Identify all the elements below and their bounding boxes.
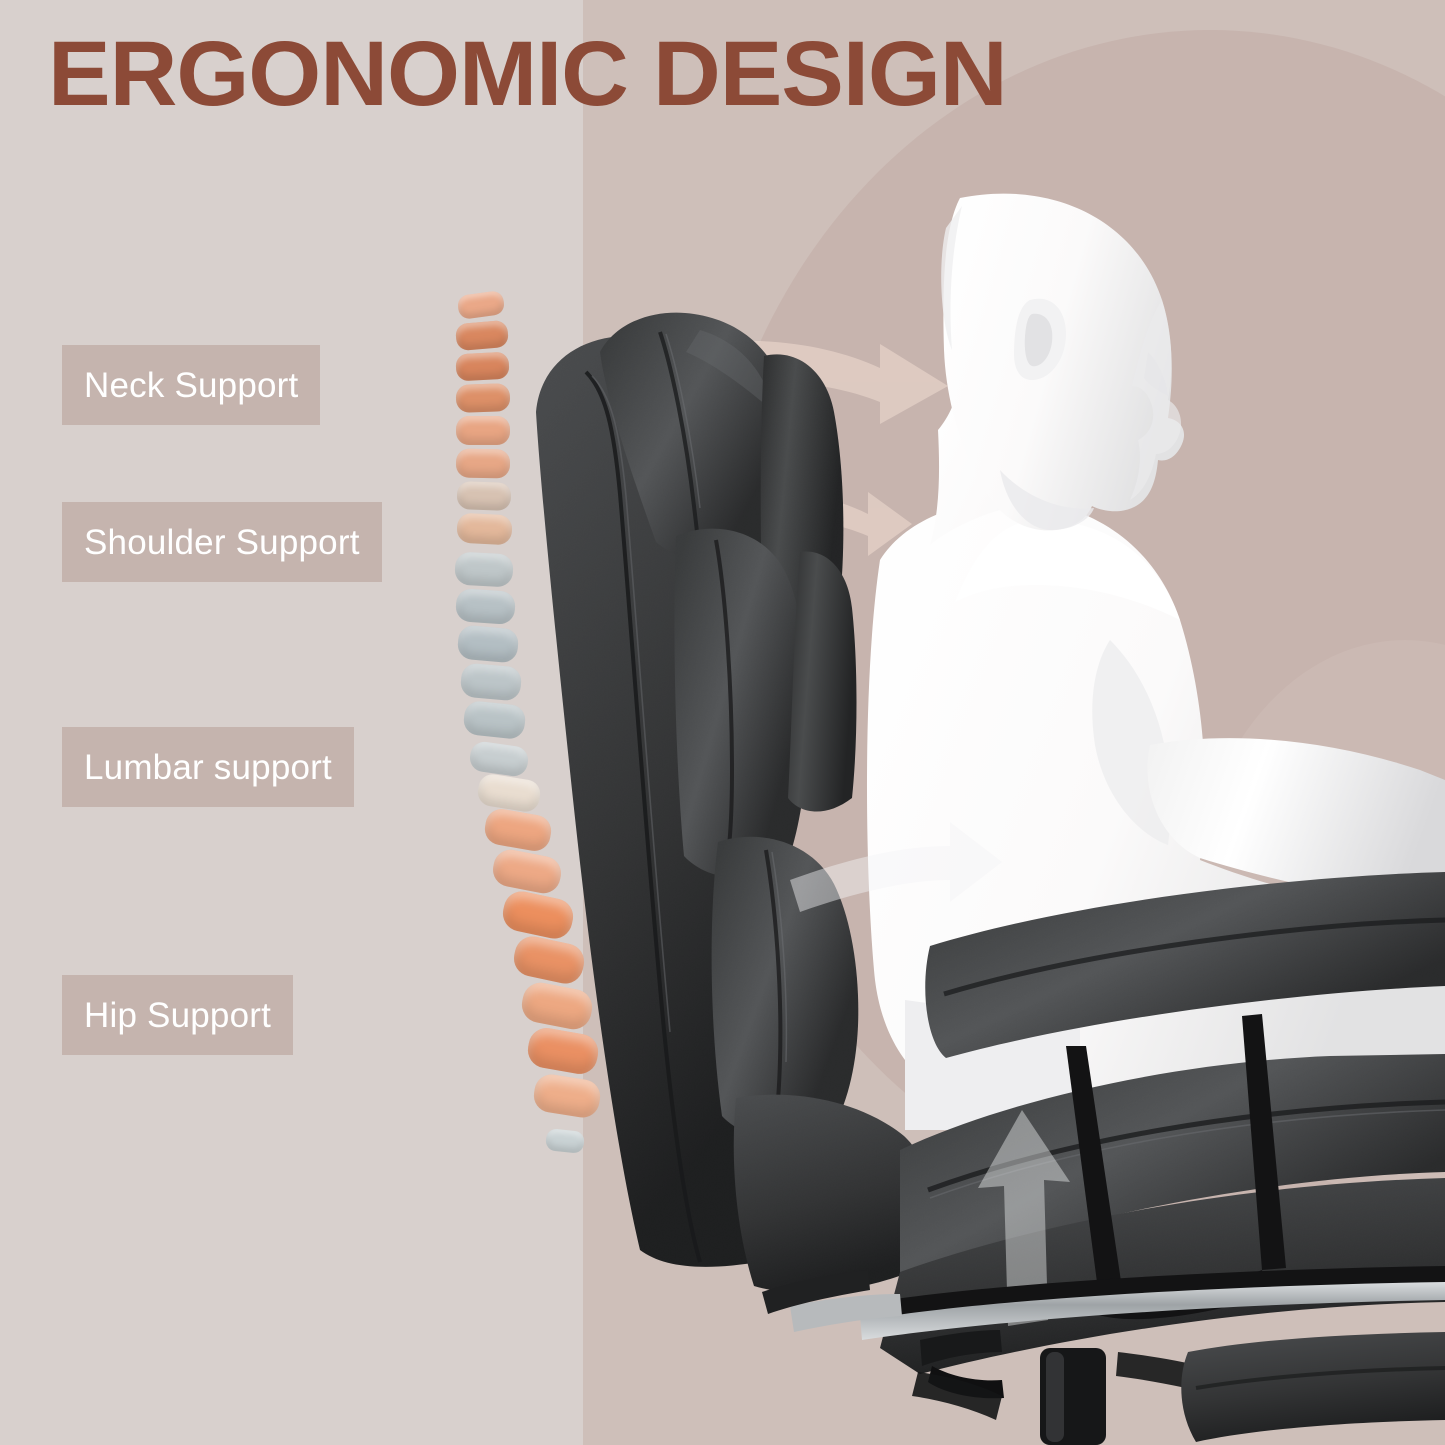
label-chip-neck[interactable]: Neck Support [62, 345, 320, 425]
label-chip-shoulder[interactable]: Shoulder Support [62, 502, 382, 582]
infographic-canvas: ERGONOMIC DESIGN Neck Support Shoulder S… [0, 0, 1445, 1445]
product-illustration [0, 0, 1445, 1445]
label-chip-shoulder-text: Shoulder Support [84, 525, 360, 560]
label-chip-lumbar[interactable]: Lumbar support [62, 727, 354, 807]
label-chip-neck-text: Neck Support [84, 368, 298, 403]
page-title: ERGONOMIC DESIGN [48, 28, 1007, 120]
label-chip-hip[interactable]: Hip Support [62, 975, 293, 1055]
chair-rear-pad [1181, 1332, 1445, 1442]
label-chip-lumbar-text: Lumbar support [84, 750, 332, 785]
label-chip-hip-text: Hip Support [84, 998, 271, 1033]
